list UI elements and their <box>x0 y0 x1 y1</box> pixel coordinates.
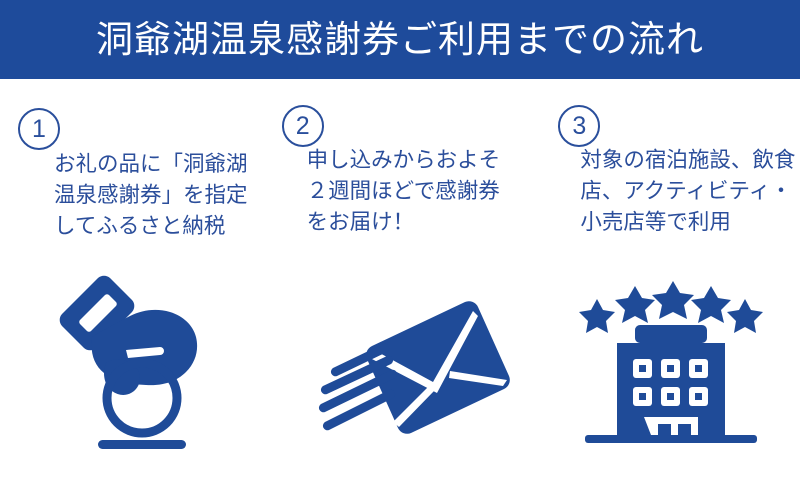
hotel-building-stars-icon <box>573 269 768 449</box>
step-item-1: 1 お礼の品に「洞爺湖温泉感謝券」を指定してふるさと納税 <box>0 79 267 495</box>
step-item-3: 3 対象の宿泊施設、飲食店、アクティビティ・小売店等で利用 <box>533 79 800 495</box>
step-description-3: 対象の宿泊施設、飲食店、アクティビティ・小売店等で利用 <box>580 145 796 238</box>
step-item-2: 2 申し込みからおよそ２週間ほどで感謝券をお届け！ <box>267 79 534 495</box>
step-description-1: お礼の品に「洞爺湖温泉感謝券」を指定してふるさと納税 <box>54 149 254 242</box>
step-number-badge-1: 1 <box>18 108 60 150</box>
page-title: 洞爺湖温泉感謝券ご利用までの流れ <box>96 21 704 58</box>
step-description-2: 申し込みからおよそ２週間ほどで感謝券をお届け！ <box>307 145 515 238</box>
flying-envelope-icon <box>317 294 517 439</box>
step-number-badge-2: 2 <box>282 105 324 147</box>
step-number-badge-3: 3 <box>558 105 600 147</box>
header-banner: 洞爺湖温泉感謝券ご利用までの流れ <box>0 0 800 79</box>
steps-container: 1 お礼の品に「洞爺湖温泉感謝券」を指定してふるさと納税 <box>0 79 800 495</box>
hand-dropping-coin-icon <box>50 269 220 449</box>
